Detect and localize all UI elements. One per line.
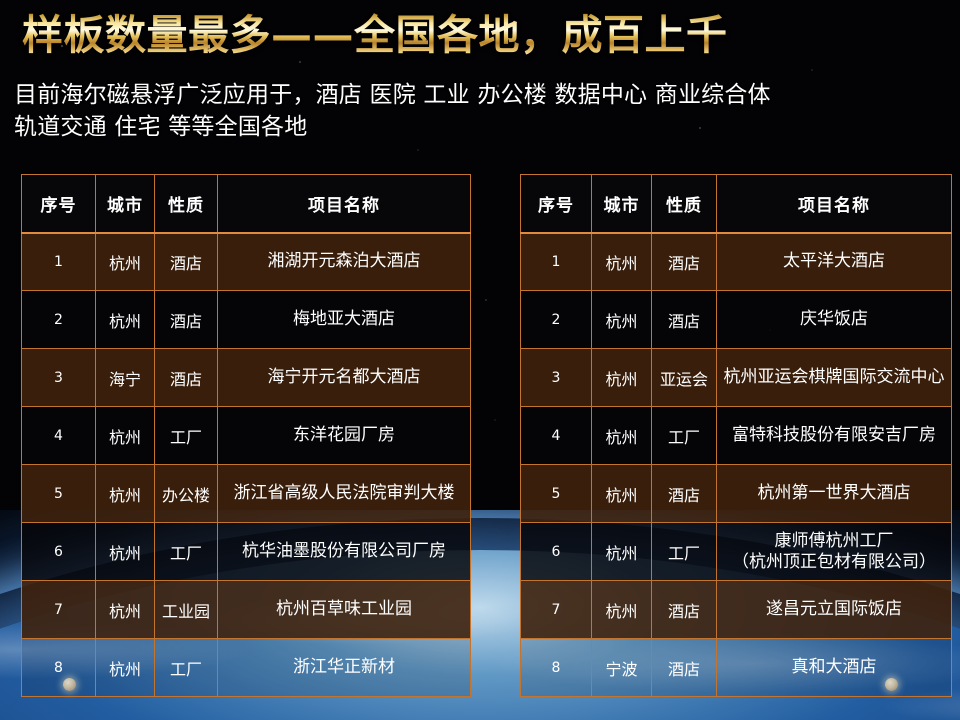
cell-type: 酒店 (155, 349, 218, 407)
table-row: 2 杭州 酒店 庆华饭店 (521, 291, 952, 349)
column-header-type: 性质 (155, 175, 218, 233)
cell-project: 太平洋大酒店 (717, 233, 952, 291)
column-header-city: 城市 (592, 175, 652, 233)
column-header-project: 项目名称 (717, 175, 952, 233)
cell-index: 1 (22, 233, 96, 291)
table-row: 2 杭州 酒店 梅地亚大酒店 (22, 291, 471, 349)
cell-type: 工厂 (652, 407, 717, 465)
slide-headline: 样板数量最多——全国各地，成百上千 (22, 10, 728, 60)
table-row: 7 杭州 工业园 杭州百草味工业园 (22, 581, 471, 639)
table-row: 7 杭州 酒店 遂昌元立国际饭店 (521, 581, 952, 639)
cell-index: 4 (521, 407, 592, 465)
cell-index: 5 (22, 465, 96, 523)
cell-project: 浙江华正新材 (218, 639, 471, 697)
table-header-row: 序号 城市 性质 项目名称 (22, 175, 471, 233)
table-row: 1 杭州 酒店 太平洋大酒店 (521, 233, 952, 291)
right-table-header: 序号 城市 性质 项目名称 (521, 175, 952, 233)
table-row: 1 杭州 酒店 湘湖开元森泊大酒店 (22, 233, 471, 291)
cell-project: 浙江省高级人民法院审判大楼 (218, 465, 471, 523)
cell-city: 杭州 (96, 407, 155, 465)
table-header-row: 序号 城市 性质 项目名称 (521, 175, 952, 233)
cell-project: 杭州第一世界大酒店 (717, 465, 952, 523)
cell-project: 真和大酒店 (717, 639, 952, 697)
left-table-header: 序号 城市 性质 项目名称 (22, 175, 471, 233)
cell-index: 7 (22, 581, 96, 639)
column-header-type: 性质 (652, 175, 717, 233)
cell-type: 工业园 (155, 581, 218, 639)
column-header-city: 城市 (96, 175, 155, 233)
cell-index: 1 (521, 233, 592, 291)
column-header-project: 项目名称 (218, 175, 471, 233)
cell-city: 杭州 (592, 581, 652, 639)
cell-type: 亚运会 (652, 349, 717, 407)
cell-city: 杭州 (592, 233, 652, 291)
cell-project: 遂昌元立国际饭店 (717, 581, 952, 639)
cell-type: 工厂 (155, 639, 218, 697)
table-row: 4 杭州 工厂 东洋花园厂房 (22, 407, 471, 465)
projects-table-left: 序号 城市 性质 项目名称 1 杭州 酒店 湘湖开元森泊大酒店 2 杭州 酒店 … (21, 174, 471, 697)
subtitle-line-1: 目前海尔磁悬浮广泛应用于，酒店 医院 工业 办公楼 数据中心 商业综合体 (14, 80, 944, 112)
cell-project: 东洋花园厂房 (218, 407, 471, 465)
table-row: 3 海宁 酒店 海宁开元名都大酒店 (22, 349, 471, 407)
cell-type: 酒店 (652, 233, 717, 291)
cell-type: 酒店 (155, 233, 218, 291)
table-row: 6 杭州 工厂 杭华油墨股份有限公司厂房 (22, 523, 471, 581)
cell-city: 杭州 (96, 465, 155, 523)
cell-city: 海宁 (96, 349, 155, 407)
cell-city: 杭州 (592, 465, 652, 523)
table-row: 8 杭州 工厂 浙江华正新材 (22, 639, 471, 697)
table-row: 4 杭州 工厂 富特科技股份有限安吉厂房 (521, 407, 952, 465)
table-row: 5 杭州 酒店 杭州第一世界大酒店 (521, 465, 952, 523)
cell-index: 4 (22, 407, 96, 465)
cell-type: 工厂 (652, 523, 717, 581)
cell-type: 酒店 (155, 291, 218, 349)
cell-city: 杭州 (592, 291, 652, 349)
cell-type: 酒店 (652, 581, 717, 639)
cell-city: 杭州 (96, 233, 155, 291)
cell-project: 康师傅杭州工厂 （杭州顶正包材有限公司） (717, 523, 952, 581)
cell-project: 杭华油墨股份有限公司厂房 (218, 523, 471, 581)
column-header-index: 序号 (521, 175, 592, 233)
table-row: 3 杭州 亚运会 杭州亚运会棋牌国际交流中心 (521, 349, 952, 407)
cell-city: 杭州 (96, 581, 155, 639)
cell-index: 8 (22, 639, 96, 697)
cell-city: 杭州 (592, 349, 652, 407)
subtitle-line-2: 轨道交通 住宅 等等全国各地 (14, 112, 944, 144)
cell-index: 5 (521, 465, 592, 523)
cell-city: 杭州 (96, 523, 155, 581)
cell-city: 宁波 (592, 639, 652, 697)
cell-project: 富特科技股份有限安吉厂房 (717, 407, 952, 465)
cell-index: 7 (521, 581, 592, 639)
cell-city: 杭州 (96, 291, 155, 349)
left-table-body: 1 杭州 酒店 湘湖开元森泊大酒店 2 杭州 酒店 梅地亚大酒店 3 海宁 酒店… (22, 233, 471, 697)
cell-city: 杭州 (592, 523, 652, 581)
cell-index: 8 (521, 639, 592, 697)
cell-type: 工厂 (155, 523, 218, 581)
cell-city: 杭州 (592, 407, 652, 465)
cell-project: 杭州百草味工业园 (218, 581, 471, 639)
cell-index: 2 (22, 291, 96, 349)
table-row: 6 杭州 工厂 康师傅杭州工厂 （杭州顶正包材有限公司） (521, 523, 952, 581)
cell-project: 湘湖开元森泊大酒店 (218, 233, 471, 291)
cell-index: 2 (521, 291, 592, 349)
slide-subtitle: 目前海尔磁悬浮广泛应用于，酒店 医院 工业 办公楼 数据中心 商业综合体 轨道交… (14, 80, 944, 143)
cell-type: 办公楼 (155, 465, 218, 523)
cell-index: 6 (521, 523, 592, 581)
cell-project: 杭州亚运会棋牌国际交流中心 (717, 349, 952, 407)
slide-root: 样板数量最多——全国各地，成百上千 目前海尔磁悬浮广泛应用于，酒店 医院 工业 … (0, 0, 960, 720)
cell-type: 工厂 (155, 407, 218, 465)
column-header-index: 序号 (22, 175, 96, 233)
cell-project: 梅地亚大酒店 (218, 291, 471, 349)
table-row: 5 杭州 办公楼 浙江省高级人民法院审判大楼 (22, 465, 471, 523)
right-table-body: 1 杭州 酒店 太平洋大酒店 2 杭州 酒店 庆华饭店 3 杭州 亚运会 杭州亚… (521, 233, 952, 697)
cell-index: 6 (22, 523, 96, 581)
cell-index: 3 (22, 349, 96, 407)
cell-type: 酒店 (652, 465, 717, 523)
cell-type: 酒店 (652, 639, 717, 697)
table-row: 8 宁波 酒店 真和大酒店 (521, 639, 952, 697)
cell-city: 杭州 (96, 639, 155, 697)
projects-table-right: 序号 城市 性质 项目名称 1 杭州 酒店 太平洋大酒店 2 杭州 酒店 庆华饭… (520, 174, 952, 697)
cell-project: 海宁开元名都大酒店 (218, 349, 471, 407)
cell-project: 庆华饭店 (717, 291, 952, 349)
cell-index: 3 (521, 349, 592, 407)
cell-type: 酒店 (652, 291, 717, 349)
